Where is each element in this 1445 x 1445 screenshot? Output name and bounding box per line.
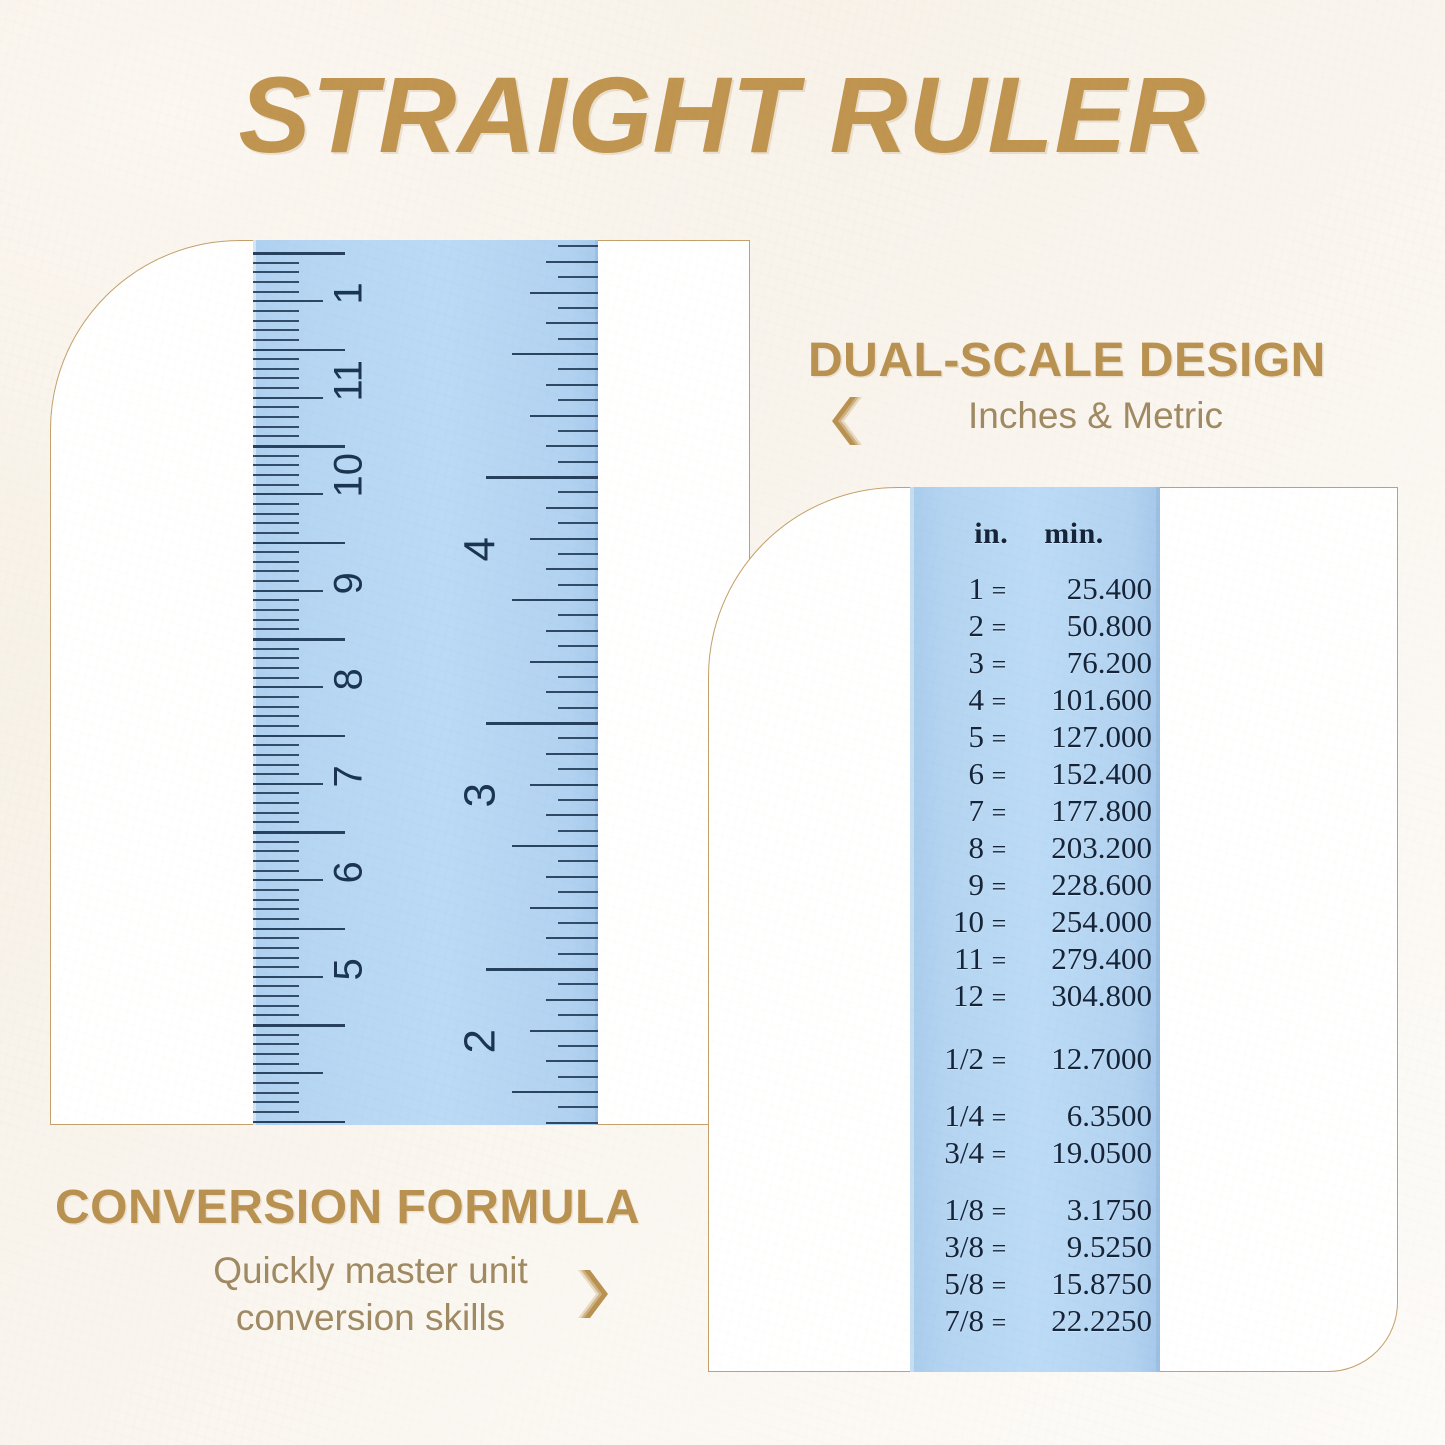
imperial-scale-label: 2	[455, 1029, 505, 1053]
metric-mm-tick	[253, 870, 299, 872]
imperial-i16-tick	[558, 707, 598, 709]
metric-mm-tick	[253, 754, 299, 756]
imperial-i8-tick	[546, 507, 598, 509]
conversion-mm-value: 177.800	[1014, 795, 1156, 826]
equals-sign: =	[984, 1199, 1014, 1225]
conversion-strip: in. min. 1=25.4002=50.8003=76.2004=101.6…	[910, 487, 1160, 1372]
imperial-i1-tick	[486, 476, 598, 479]
metric-mm-tick	[253, 908, 299, 910]
imperial-i1-tick	[486, 722, 598, 725]
metric-mm-tick	[253, 570, 299, 572]
conversion-row: 1/2=12.7000	[910, 1043, 1160, 1074]
metric-mm-tick	[253, 426, 299, 428]
row-spacer	[910, 1080, 1160, 1100]
metric-mm-tick	[253, 368, 299, 370]
metric-cm-tick	[253, 252, 345, 255]
conversion-mm-value: 152.400	[1014, 758, 1156, 789]
metric-scale-label: 10	[327, 453, 372, 498]
conversion-inch-value: 7/8	[910, 1305, 984, 1336]
metric-mm-tick	[253, 667, 299, 669]
conversion-inch-value: 6	[910, 758, 984, 789]
conversion-row: 1/8=3.1750	[910, 1194, 1160, 1225]
imperial-i8-tick	[546, 322, 598, 324]
metric-scale-label: 11	[327, 359, 372, 401]
imperial-i4-tick	[530, 661, 598, 663]
metric-mm-tick	[253, 860, 299, 862]
imperial-i4-tick	[530, 1030, 598, 1032]
metric-mm-tick	[253, 706, 299, 708]
imperial-i8-tick	[546, 630, 598, 632]
metric-mm-tick	[253, 522, 299, 524]
imperial-i16-tick	[558, 584, 598, 586]
conversion-inch-value: 1/8	[910, 1194, 984, 1225]
metric-mm-tick	[253, 513, 299, 515]
conversion-inch-value: 10	[910, 906, 984, 937]
metric-mm-tick	[253, 339, 299, 341]
metric-mm-tick	[253, 291, 299, 293]
metric-mm-tick	[253, 474, 299, 476]
metric-cm-tick	[253, 831, 345, 834]
metric-mm-tick	[253, 696, 299, 698]
metric-mm-tick	[253, 599, 299, 601]
equals-sign: =	[984, 985, 1014, 1011]
metric-scale-label: 6	[327, 861, 372, 883]
metric-mm-tick	[253, 918, 299, 920]
imperial-i16-tick	[558, 1014, 598, 1016]
imperial-i4-tick	[530, 784, 598, 786]
equals-sign: =	[984, 911, 1014, 937]
conversion-mm-value: 15.8750	[1014, 1268, 1156, 1299]
metric-mm-tick	[253, 377, 299, 379]
equals-sign: =	[984, 1310, 1014, 1336]
imperial-i2-tick	[512, 1091, 598, 1093]
imperial-i8-tick	[546, 691, 598, 693]
conversion-mm-value: 19.0500	[1014, 1137, 1156, 1168]
imperial-i16-tick	[558, 645, 598, 647]
metric-cm-tick	[253, 445, 345, 448]
metric-mm-tick	[253, 281, 299, 283]
metric-mm-tick	[253, 937, 299, 939]
imperial-scale-label: 4	[455, 537, 505, 561]
metric-mm-tick	[253, 821, 299, 823]
conversion-mm-value: 9.5250	[1014, 1231, 1156, 1262]
metric-5mm-tick	[253, 397, 323, 399]
conversion-row: 3=76.200	[910, 647, 1160, 678]
conversion-inch-value: 8	[910, 832, 984, 863]
conversion-inch-value: 5/8	[910, 1268, 984, 1299]
metric-5mm-tick	[253, 976, 323, 978]
ruler-right-edge	[595, 240, 598, 1125]
conversion-inch-value: 4	[910, 684, 984, 715]
conversion-row: 2=50.800	[910, 610, 1160, 641]
metric-5mm-tick	[253, 590, 323, 592]
imperial-i16-tick	[558, 1076, 598, 1078]
imperial-i16-tick	[558, 922, 598, 924]
imperial-i8-tick	[546, 937, 598, 939]
imperial-i16-tick	[558, 891, 598, 893]
imperial-i16-tick	[558, 461, 598, 463]
equals-sign: =	[984, 1236, 1014, 1262]
metric-mm-tick	[253, 619, 299, 621]
feature-subtitle-conversion-formula: Quickly master unit conversion skills	[198, 1247, 543, 1342]
conversion-inch-value: 1	[910, 573, 984, 604]
equals-sign: =	[984, 1142, 1014, 1168]
metric-mm-tick	[253, 387, 299, 389]
metric-mm-tick	[253, 1014, 299, 1016]
conversion-inch-value: 3/4	[910, 1137, 984, 1168]
metric-mm-tick	[253, 966, 299, 968]
metric-cm-tick	[253, 1121, 345, 1124]
imperial-i2-tick	[512, 845, 598, 847]
metric-cm-tick	[253, 735, 345, 738]
imperial-i16-tick	[558, 338, 598, 340]
conversion-row: 4=101.600	[910, 684, 1160, 715]
metric-mm-tick	[253, 551, 299, 553]
imperial-i16-tick	[558, 676, 598, 678]
metric-mm-tick	[253, 715, 299, 717]
imperial-scale-label: 3	[455, 783, 505, 807]
conversion-inch-value: 2	[910, 610, 984, 641]
imperial-i8-tick	[546, 999, 598, 1001]
imperial-i16-tick	[558, 768, 598, 770]
metric-cm-tick	[253, 542, 345, 545]
conversion-mm-value: 254.000	[1014, 906, 1156, 937]
conversion-mm-value: 127.000	[1014, 721, 1156, 752]
metric-mm-tick	[253, 416, 299, 418]
imperial-i16-tick	[558, 368, 598, 370]
metric-5mm-tick	[253, 783, 323, 785]
equals-sign: =	[984, 1273, 1014, 1299]
metric-mm-tick	[253, 1092, 299, 1094]
conversion-mm-value: 25.400	[1014, 573, 1156, 604]
metric-mm-tick	[253, 503, 299, 505]
conversion-row: 7=177.800	[910, 795, 1160, 826]
conversion-mm-value: 12.7000	[1014, 1043, 1156, 1074]
metric-mm-tick	[253, 1101, 299, 1103]
imperial-i16-tick	[558, 399, 598, 401]
metric-mm-tick	[253, 1082, 299, 1084]
metric-scale-label: 9	[327, 572, 372, 594]
metric-scale-label: 7	[327, 765, 372, 787]
conversion-inch-value: 1/2	[910, 1043, 984, 1074]
conversion-inch-value: 12	[910, 980, 984, 1011]
metric-5mm-tick	[253, 300, 323, 302]
imperial-i16-tick	[558, 737, 598, 739]
imperial-i16-tick	[558, 553, 598, 555]
equals-sign: =	[984, 689, 1014, 715]
metric-cm-tick	[253, 638, 345, 641]
metric-mm-tick	[253, 271, 299, 273]
metric-scale-label: 1	[327, 282, 372, 304]
metric-5mm-tick	[253, 879, 323, 881]
metric-5mm-tick	[253, 1072, 323, 1074]
metric-mm-tick	[253, 628, 299, 630]
conversion-mm-value: 76.200	[1014, 647, 1156, 678]
imperial-i1-tick	[486, 968, 598, 971]
conversion-inch-value: 5	[910, 721, 984, 752]
metric-mm-tick	[253, 657, 299, 659]
metric-mm-tick	[253, 532, 299, 534]
conversion-table-header: in. min.	[910, 517, 1160, 551]
conversion-inch-value: 1/4	[910, 1100, 984, 1131]
equals-sign: =	[984, 615, 1014, 641]
metric-mm-tick	[253, 406, 299, 408]
metric-mm-tick	[253, 995, 299, 997]
equals-sign: =	[984, 578, 1014, 604]
page-title: STRAIGHT RULER	[0, 52, 1445, 177]
imperial-i4-tick	[530, 538, 598, 540]
metric-mm-tick	[253, 484, 299, 486]
imperial-i16-tick	[558, 983, 598, 985]
metric-mm-tick	[253, 744, 299, 746]
imperial-i16-tick	[558, 953, 598, 955]
conversion-inch-value: 3/8	[910, 1231, 984, 1262]
conversion-mm-value: 203.200	[1014, 832, 1156, 863]
conversion-mm-value: 6.3500	[1014, 1100, 1156, 1131]
ruler-strip: 1111098765 432	[253, 240, 598, 1125]
imperial-i16-tick	[558, 276, 598, 278]
imperial-i4-tick	[530, 415, 598, 417]
conversion-mm-value: 50.800	[1014, 610, 1156, 641]
metric-mm-tick	[253, 812, 299, 814]
equals-sign: =	[984, 874, 1014, 900]
metric-mm-tick	[253, 1053, 299, 1055]
metric-mm-tick	[253, 889, 299, 891]
metric-mm-tick	[253, 1063, 299, 1065]
conversion-row: 11=279.400	[910, 943, 1160, 974]
metric-mm-tick	[253, 580, 299, 582]
metric-mm-tick	[253, 320, 299, 322]
metric-mm-tick	[253, 648, 299, 650]
metric-mm-tick	[253, 455, 299, 457]
metric-mm-tick	[253, 561, 299, 563]
equals-sign: =	[984, 1105, 1014, 1131]
imperial-i16-tick	[558, 245, 598, 247]
metric-mm-tick	[253, 792, 299, 794]
feature-title-dual-scale: DUAL-SCALE DESIGN	[808, 333, 1326, 388]
imperial-i16-tick	[558, 491, 598, 493]
conversion-mm-value: 22.2250	[1014, 1305, 1156, 1336]
conversion-row: 6=152.400	[910, 758, 1160, 789]
metric-mm-tick	[253, 609, 299, 611]
ruler-left-edge	[253, 240, 256, 1125]
imperial-i8-tick	[546, 568, 598, 570]
imperial-i8-tick	[546, 384, 598, 386]
imperial-i16-tick	[558, 430, 598, 432]
metric-mm-tick	[253, 1005, 299, 1007]
conversion-mm-value: 101.600	[1014, 684, 1156, 715]
feature-subtitle-dual-scale: Inches & Metric	[968, 392, 1223, 439]
conversion-row: 8=203.200	[910, 832, 1160, 863]
imperial-i8-tick	[546, 814, 598, 816]
conversion-row: 5/8=15.8750	[910, 1268, 1160, 1299]
equals-sign: =	[984, 800, 1014, 826]
conversion-inch-value: 7	[910, 795, 984, 826]
metric-mm-tick	[253, 899, 299, 901]
metric-mm-tick	[253, 435, 299, 437]
conversion-mm-value: 3.1750	[1014, 1194, 1156, 1225]
imperial-i8-tick	[546, 261, 598, 263]
equals-sign: =	[984, 837, 1014, 863]
metric-scale-label: 5	[327, 958, 372, 980]
imperial-i8-tick	[546, 445, 598, 447]
conversion-table-body: 1=25.4002=50.8003=76.2004=101.6005=127.0…	[910, 573, 1160, 1336]
conversion-mm-value: 228.600	[1014, 869, 1156, 900]
row-spacer	[910, 1017, 1160, 1043]
imperial-i16-tick	[558, 614, 598, 616]
metric-mm-tick	[253, 1111, 299, 1113]
metric-mm-tick	[253, 725, 299, 727]
infographic-stage: STRAIGHT RULER 1111098765 432 in. min. 1…	[0, 0, 1445, 1445]
equals-sign: =	[984, 1048, 1014, 1074]
metric-5mm-tick	[253, 493, 323, 495]
metric-mm-tick	[253, 957, 299, 959]
metric-5mm-tick	[253, 686, 323, 688]
conversion-row: 9=228.600	[910, 869, 1160, 900]
metric-mm-tick	[253, 850, 299, 852]
imperial-i16-tick	[558, 860, 598, 862]
conversion-mm-value: 279.400	[1014, 943, 1156, 974]
metric-mm-tick	[253, 464, 299, 466]
conversion-row: 3/4=19.0500	[910, 1137, 1160, 1168]
imperial-i8-tick	[546, 1060, 598, 1062]
conversion-row: 10=254.000	[910, 906, 1160, 937]
imperial-i8-tick	[546, 753, 598, 755]
metric-mm-tick	[253, 947, 299, 949]
metric-mm-tick	[253, 310, 299, 312]
conversion-row: 7/8=22.2250	[910, 1305, 1160, 1336]
metric-mm-tick	[253, 802, 299, 804]
imperial-i8-tick	[546, 876, 598, 878]
conversion-row: 1/4=6.3500	[910, 1100, 1160, 1131]
equals-sign: =	[984, 948, 1014, 974]
imperial-i16-tick	[558, 307, 598, 309]
conversion-inch-value: 3	[910, 647, 984, 678]
imperial-i16-tick	[558, 799, 598, 801]
metric-mm-tick	[253, 329, 299, 331]
imperial-i2-tick	[512, 599, 598, 601]
imperial-i8-tick	[546, 1122, 598, 1124]
imperial-i16-tick	[558, 1045, 598, 1047]
metric-cm-tick	[253, 349, 345, 352]
metric-mm-tick	[253, 841, 299, 843]
imperial-i16-tick	[558, 830, 598, 832]
conversion-mm-value: 304.800	[1014, 980, 1156, 1011]
header-millimeters: min.	[1044, 517, 1104, 551]
imperial-i2-tick	[512, 353, 598, 355]
metric-cm-tick	[253, 1024, 345, 1027]
metric-mm-tick	[253, 764, 299, 766]
metric-mm-tick	[253, 1034, 299, 1036]
feature-title-conversion-formula: CONVERSION FORMULA	[55, 1180, 640, 1235]
conversion-table: in. min. 1=25.4002=50.8003=76.2004=101.6…	[910, 487, 1160, 1342]
imperial-i16-tick	[558, 522, 598, 524]
metric-cm-tick	[253, 928, 345, 931]
equals-sign: =	[984, 652, 1014, 678]
imperial-i4-tick	[530, 907, 598, 909]
conversion-row: 3/8=9.5250	[910, 1231, 1160, 1262]
equals-sign: =	[984, 726, 1014, 752]
metric-mm-tick	[253, 677, 299, 679]
imperial-i4-tick	[530, 292, 598, 294]
header-inches: in.	[974, 517, 1008, 551]
conversion-row: 5=127.000	[910, 721, 1160, 752]
metric-mm-tick	[253, 773, 299, 775]
conversion-row: 1=25.400	[910, 573, 1160, 604]
metric-scale-label: 8	[327, 668, 372, 690]
conversion-row: 12=304.800	[910, 980, 1160, 1011]
metric-mm-tick	[253, 358, 299, 360]
metric-mm-tick	[253, 985, 299, 987]
metric-mm-tick	[253, 1043, 299, 1045]
conversion-inch-value: 9	[910, 869, 984, 900]
equals-sign: =	[984, 763, 1014, 789]
conversion-inch-value: 11	[910, 943, 984, 974]
metric-mm-tick	[253, 262, 299, 264]
row-spacer	[910, 1174, 1160, 1194]
imperial-i16-tick	[558, 1106, 598, 1108]
